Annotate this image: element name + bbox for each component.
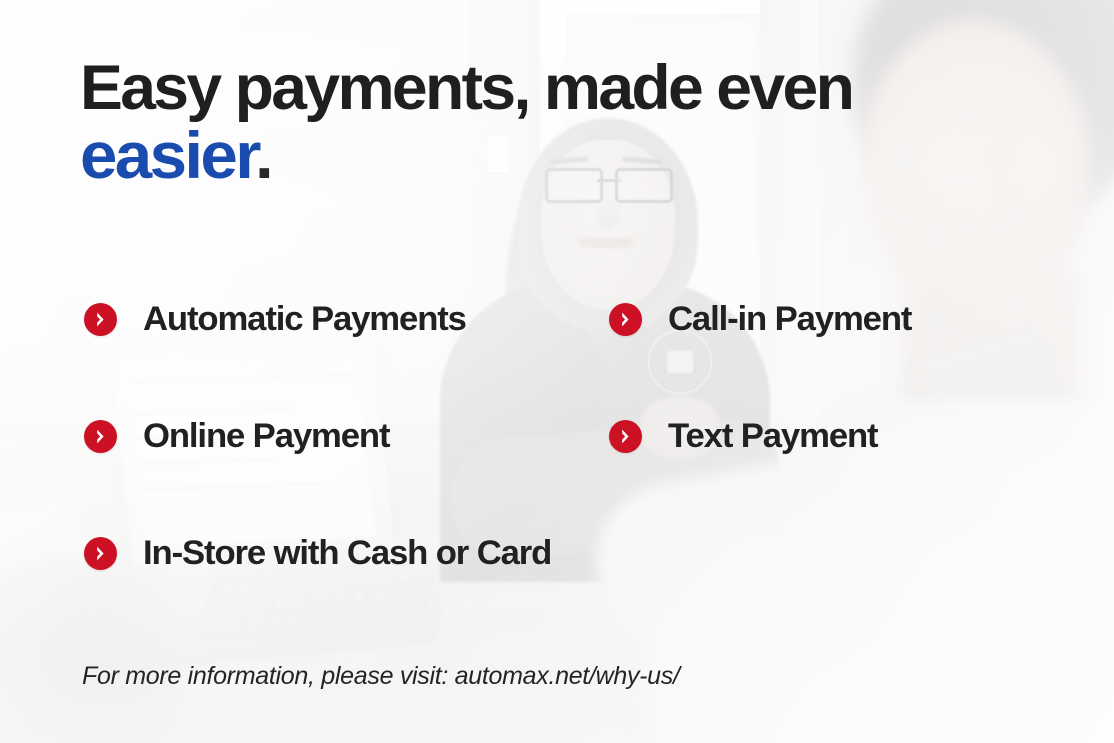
payment-options-row: Automatic Payments Call-in Payment — [0, 300, 1114, 417]
list-item-label: Online Payment — [143, 417, 389, 456]
footer-note: For more information, please visit: auto… — [82, 662, 680, 691]
headline-period: . — [255, 118, 271, 192]
chevron-right-circle-icon — [84, 303, 117, 336]
headline-highlight: easier — [80, 118, 255, 192]
chevron-right-circle-icon — [609, 303, 642, 336]
chevron-right-circle-icon — [609, 420, 642, 453]
banner-content: Easy payments, made eveneasier. Automati… — [0, 0, 1114, 743]
headline-line-1: Easy payments, made even — [80, 53, 852, 123]
chevron-right-circle-icon — [84, 537, 117, 570]
promo-banner: Easy payments, made eveneasier. Automati… — [0, 0, 1114, 743]
list-item-label: Call-in Payment — [668, 300, 911, 339]
list-item-call-in-payment[interactable]: Call-in Payment — [609, 300, 907, 339]
payment-options-row: In-Store with Cash or Card — [0, 534, 1114, 651]
chevron-right-circle-icon — [84, 420, 117, 453]
headline-line-2: easier. — [80, 124, 852, 187]
payment-options-list: Automatic Payments Call-in Payment — [0, 300, 1114, 651]
list-item-text-payment[interactable]: Text Payment — [609, 417, 873, 456]
list-item-label: Text Payment — [668, 417, 877, 456]
list-item-label: In-Store with Cash or Card — [143, 534, 551, 573]
list-item-online-payment[interactable]: Online Payment — [84, 417, 385, 456]
list-item-automatic-payments[interactable]: Automatic Payments — [84, 300, 460, 339]
list-item-label: Automatic Payments — [143, 300, 466, 339]
payment-options-row: Online Payment Text Payment — [0, 417, 1114, 534]
list-item-in-store-payment[interactable]: In-Store with Cash or Card — [84, 534, 543, 573]
page-title: Easy payments, made eveneasier. — [80, 58, 852, 188]
